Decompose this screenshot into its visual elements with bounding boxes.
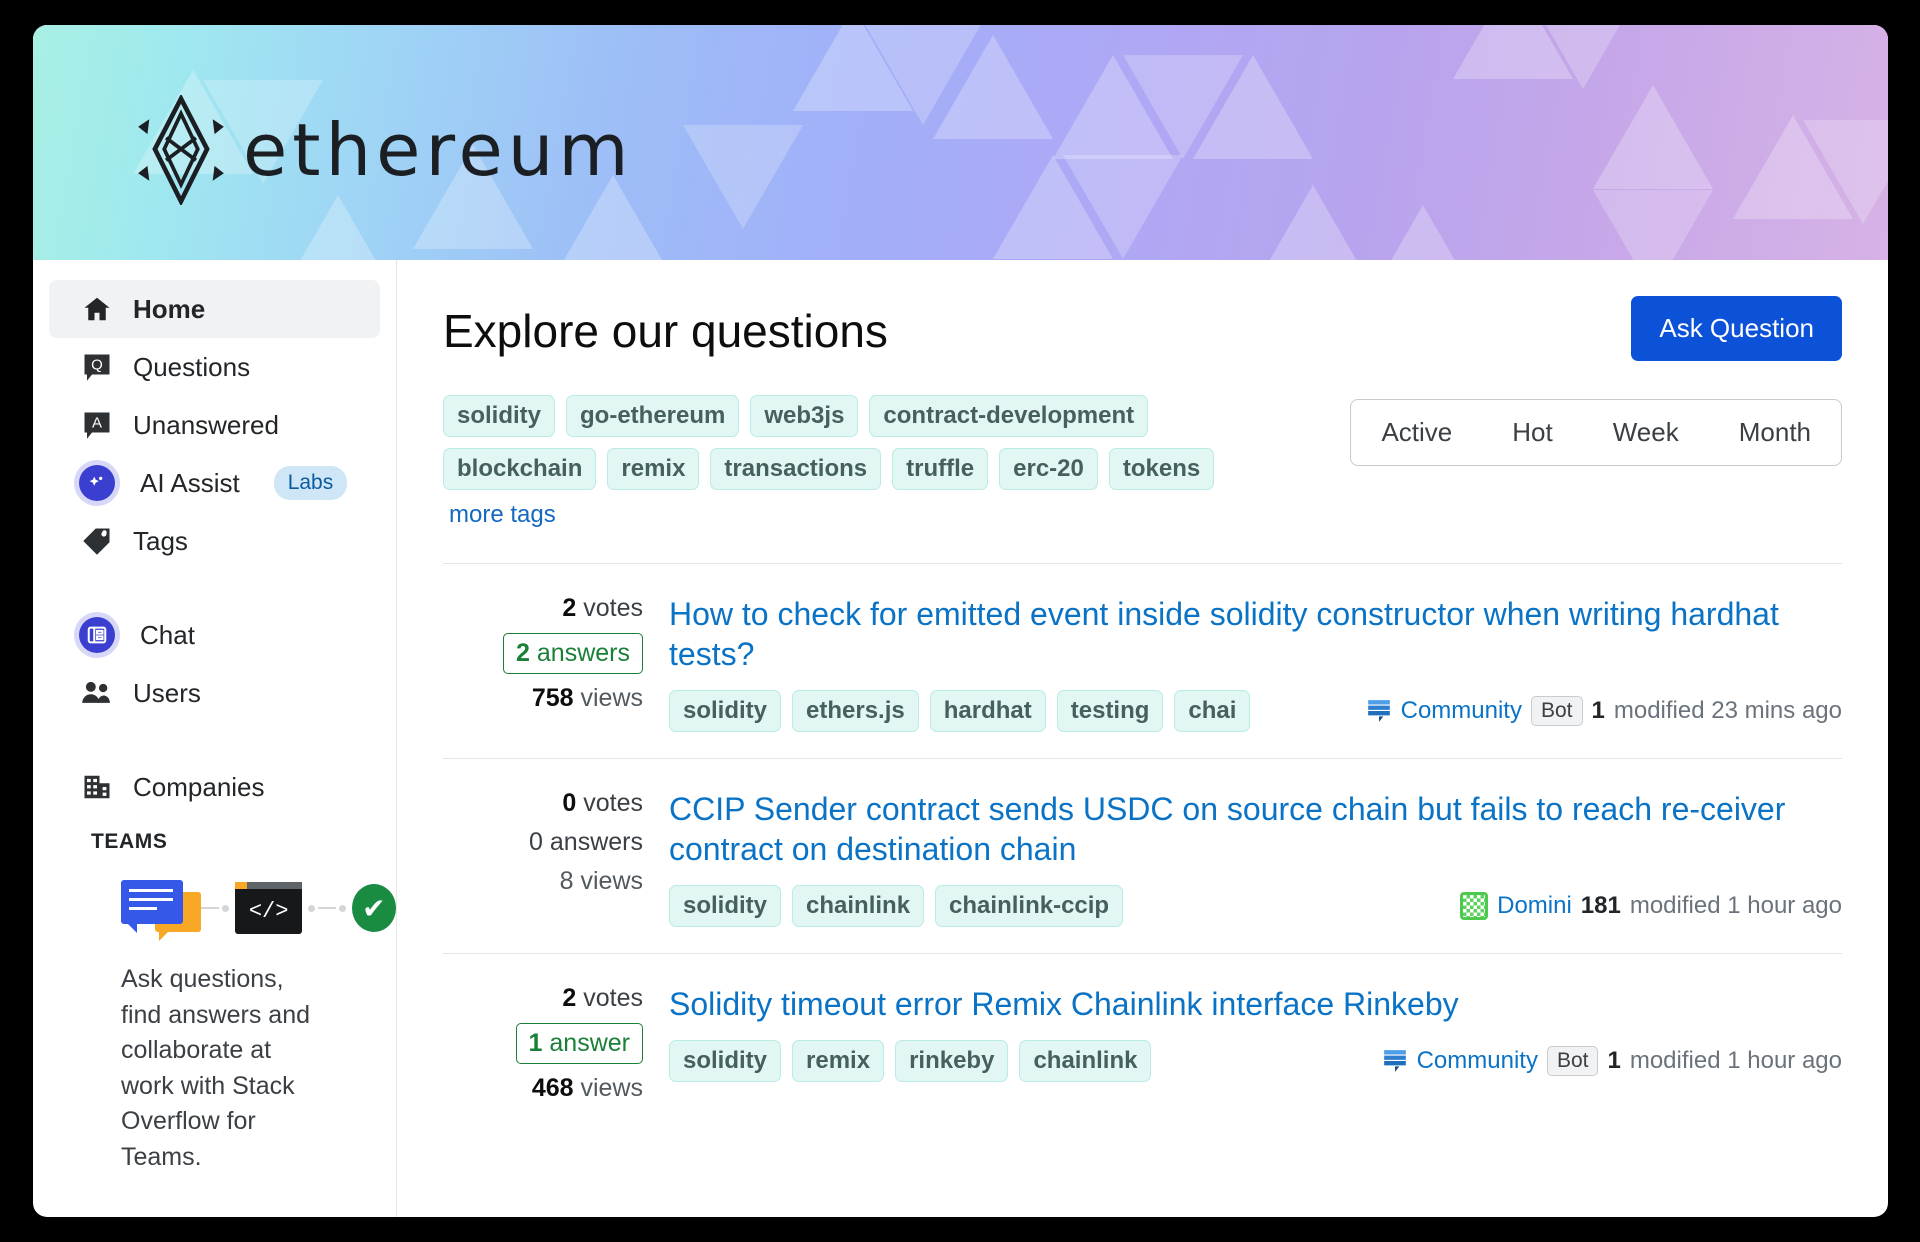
chat-icon bbox=[74, 612, 120, 658]
question-meta: Community Bot 1 modified 1 hour ago bbox=[1382, 1046, 1842, 1076]
home-icon bbox=[81, 293, 113, 325]
user-reputation: 181 bbox=[1581, 892, 1621, 920]
tag-icon bbox=[81, 525, 113, 557]
sidebar-spacer bbox=[33, 570, 396, 606]
views-count: 8 views bbox=[560, 867, 643, 896]
tab-month[interactable]: Month bbox=[1709, 400, 1841, 465]
question-title-link[interactable]: How to check for emitted event inside so… bbox=[669, 594, 1842, 674]
views-count: 468 views bbox=[532, 1074, 643, 1103]
browser-window: ethereum Home Q Questions A Un bbox=[33, 25, 1888, 1217]
site-logo[interactable]: ethereum bbox=[133, 95, 634, 205]
sidebar-item-chat[interactable]: Chat bbox=[49, 606, 380, 664]
main-content: Explore our questions Ask Question solid… bbox=[397, 260, 1888, 1217]
tag-chip[interactable]: solidity bbox=[669, 690, 781, 732]
sidebar-spacer bbox=[33, 722, 396, 758]
decor-triangle bbox=[1193, 55, 1313, 159]
tag-chip[interactable]: chai bbox=[1174, 690, 1250, 732]
teams-description: Ask questions, find answers and collabor… bbox=[33, 936, 396, 1175]
question-title-link[interactable]: CCIP Sender contract sends USDC on sourc… bbox=[669, 789, 1842, 869]
question-tags: solidity remix rinkeby chainlink bbox=[669, 1040, 1151, 1082]
user-link[interactable]: Community bbox=[1401, 697, 1522, 725]
logo-text: ethereum bbox=[243, 108, 634, 192]
check-circle-icon: ✔ bbox=[352, 884, 396, 932]
question-stats: 2 votes 1 answer 468 views bbox=[443, 984, 643, 1103]
decor-triangle bbox=[1803, 120, 1888, 224]
tag-cloud: solidity go-ethereum web3js contract-dev… bbox=[443, 395, 1288, 529]
question-tags: solidity ethers.js hardhat testing chai bbox=[669, 690, 1250, 732]
decor-triangle bbox=[1363, 205, 1483, 260]
question-bubble-icon: Q bbox=[81, 351, 113, 383]
sidebar-item-label: Chat bbox=[140, 620, 195, 651]
sidebar-item-ai-assist[interactable]: AI Assist Labs bbox=[49, 454, 380, 512]
sidebar-item-label: Home bbox=[133, 294, 205, 325]
decor-triangle bbox=[1253, 185, 1373, 260]
user-link[interactable]: Community bbox=[1417, 1047, 1538, 1075]
tag-chip[interactable]: transactions bbox=[710, 448, 881, 490]
ask-question-button[interactable]: Ask Question bbox=[1631, 296, 1842, 361]
decor-triangle bbox=[1063, 155, 1183, 259]
sidebar-item-unanswered[interactable]: A Unanswered bbox=[49, 396, 380, 454]
tag-chip[interactable]: rinkeby bbox=[895, 1040, 1008, 1082]
bot-badge: Bot bbox=[1547, 1046, 1599, 1076]
chat-bubbles-icon bbox=[121, 880, 185, 936]
question-action-time: modified 1 hour ago bbox=[1630, 892, 1842, 920]
tag-chip[interactable]: blockchain bbox=[443, 448, 596, 490]
sidebar-item-home[interactable]: Home bbox=[49, 280, 380, 338]
teams-heading: TEAMS bbox=[33, 816, 396, 854]
sidebar-item-tags[interactable]: Tags bbox=[49, 512, 380, 570]
decor-triangle bbox=[1593, 190, 1713, 260]
sidebar-item-questions[interactable]: Q Questions bbox=[49, 338, 380, 396]
tag-chip[interactable]: solidity bbox=[669, 1040, 781, 1082]
question-stats: 0 votes 0 answers 8 views bbox=[443, 789, 643, 927]
labs-badge: Labs bbox=[274, 466, 348, 500]
user-link[interactable]: Domini bbox=[1497, 892, 1572, 920]
answers-badge: 1 answer bbox=[516, 1023, 643, 1064]
sidebar-item-label: AI Assist bbox=[140, 468, 240, 499]
sidebar-item-label: Users bbox=[133, 678, 201, 709]
decor-triangle bbox=[1593, 85, 1713, 189]
tag-chip[interactable]: chainlink bbox=[792, 885, 924, 927]
companies-icon bbox=[81, 771, 113, 803]
bot-badge: Bot bbox=[1531, 696, 1583, 726]
question-stats: 2 votes 2 answers 758 views bbox=[443, 594, 643, 732]
tag-chip[interactable]: contract-development bbox=[869, 395, 1148, 437]
votes-count: 0 votes bbox=[562, 789, 643, 818]
votes-count: 2 votes bbox=[562, 984, 643, 1013]
tag-chip[interactable]: go-ethereum bbox=[566, 395, 739, 437]
users-icon bbox=[81, 677, 113, 709]
tag-chip[interactable]: tokens bbox=[1109, 448, 1214, 490]
connector-dots bbox=[308, 905, 346, 912]
svg-text:A: A bbox=[92, 415, 102, 432]
teams-illustration: </> ✔ bbox=[33, 854, 396, 936]
tag-chip[interactable]: hardhat bbox=[930, 690, 1046, 732]
sidebar-item-label: Unanswered bbox=[133, 410, 279, 441]
more-tags-link[interactable]: more tags bbox=[449, 501, 556, 529]
question-title-link[interactable]: Solidity timeout error Remix Chainlink i… bbox=[669, 984, 1842, 1024]
tag-chip[interactable]: remix bbox=[607, 448, 699, 490]
sidebar-item-label: Companies bbox=[133, 772, 265, 803]
sidebar-item-label: Questions bbox=[133, 352, 250, 383]
tag-chip[interactable]: ethers.js bbox=[792, 690, 919, 732]
question-action-time: modified 23 mins ago bbox=[1614, 697, 1842, 725]
sidebar-item-users[interactable]: Users bbox=[49, 664, 380, 722]
tab-hot[interactable]: Hot bbox=[1482, 400, 1582, 465]
question-list: 2 votes 2 answers 758 views How to check… bbox=[443, 563, 1842, 1129]
question-row[interactable]: 0 votes 0 answers 8 views CCIP Sender co… bbox=[443, 758, 1842, 953]
tag-chip[interactable]: remix bbox=[792, 1040, 884, 1082]
question-row[interactable]: 2 votes 1 answer 468 views Solidity time… bbox=[443, 953, 1842, 1129]
ethereum-diamond-icon bbox=[133, 95, 229, 205]
decor-triangle bbox=[683, 125, 803, 229]
tag-chip[interactable]: chainlink bbox=[1019, 1040, 1151, 1082]
tag-chip[interactable]: testing bbox=[1057, 690, 1164, 732]
sidebar-item-label: Tags bbox=[133, 526, 188, 557]
tag-chip[interactable]: solidity bbox=[669, 885, 781, 927]
user-reputation: 1 bbox=[1607, 1047, 1620, 1075]
votes-count: 2 votes bbox=[562, 594, 643, 623]
tag-chip[interactable]: chainlink-ccip bbox=[935, 885, 1123, 927]
question-tags: solidity chainlink chainlink-ccip bbox=[669, 885, 1123, 927]
tag-chip[interactable]: erc-20 bbox=[999, 448, 1098, 490]
question-action-time: modified 1 hour ago bbox=[1630, 1047, 1842, 1075]
site-banner: ethereum bbox=[33, 25, 1888, 260]
user-reputation: 1 bbox=[1592, 697, 1605, 725]
svg-text:Q: Q bbox=[91, 357, 103, 374]
views-count: 758 views bbox=[532, 684, 643, 713]
sidebar: Home Q Questions A Unanswered bbox=[33, 260, 397, 1217]
sort-filter-tabs: Active Hot Week Month bbox=[1350, 399, 1842, 466]
tag-chip[interactable]: truffle bbox=[892, 448, 988, 490]
tab-active[interactable]: Active bbox=[1351, 400, 1482, 465]
domini-avatar bbox=[1460, 892, 1488, 920]
sidebar-item-companies[interactable]: Companies bbox=[49, 758, 380, 816]
code-window-icon: </> bbox=[235, 882, 301, 934]
question-meta: Community Bot 1 modified 23 mins ago bbox=[1366, 696, 1842, 726]
community-icon bbox=[1382, 1048, 1408, 1074]
question-row[interactable]: 2 votes 2 answers 758 views How to check… bbox=[443, 563, 1842, 758]
community-icon bbox=[1366, 698, 1392, 724]
answers-badge: 2 answers bbox=[503, 633, 643, 674]
answers-count: 0 answers bbox=[529, 828, 643, 857]
page-title: Explore our questions bbox=[443, 296, 888, 358]
decor-triangle bbox=[1523, 25, 1643, 89]
tag-chip[interactable]: solidity bbox=[443, 395, 555, 437]
ai-sparkle-icon bbox=[74, 460, 120, 506]
decor-triangle bbox=[933, 35, 1053, 139]
answer-bubble-icon: A bbox=[81, 409, 113, 441]
tab-week[interactable]: Week bbox=[1583, 400, 1709, 465]
question-meta: Domini 181 modified 1 hour ago bbox=[1460, 892, 1842, 920]
tag-chip[interactable]: web3js bbox=[750, 395, 858, 437]
